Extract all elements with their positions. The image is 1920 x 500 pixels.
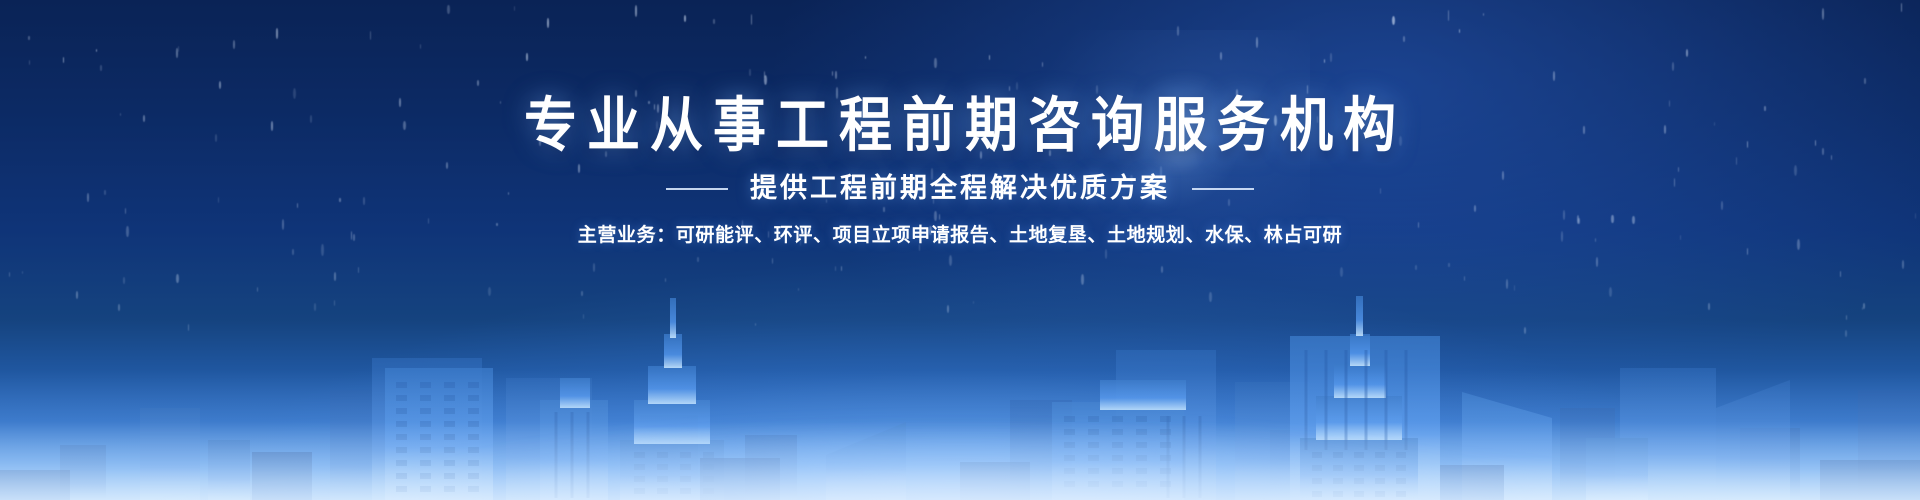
particle-field <box>0 0 1920 500</box>
rule-left-decoration <box>666 188 728 190</box>
banner-services-list: 主营业务：可研能评、环评、项目立项申请报告、土地复垦、土地规划、水保、林占可研 <box>0 226 1920 245</box>
banner-subtitle-row: 提供工程前期全程解决优质方案 <box>0 175 1920 202</box>
horizon-glow-arc <box>0 375 1920 500</box>
rule-right-decoration <box>1192 188 1254 190</box>
hero-banner: 专业从事工程前期咨询服务机构 提供工程前期全程解决优质方案 主营业务：可研能评、… <box>0 0 1920 500</box>
banner-subtitle: 提供工程前期全程解决优质方案 <box>750 175 1170 202</box>
landmark-tower-right <box>1300 296 1418 500</box>
banner-text-block: 专业从事工程前期咨询服务机构 提供工程前期全程解决优质方案 主营业务：可研能评、… <box>0 96 1920 245</box>
landmark-tower-left <box>620 298 724 500</box>
banner-headline: 专业从事工程前期咨询服务机构 <box>0 96 1920 155</box>
city-skyline-graphic <box>0 240 1920 500</box>
horizon-beam <box>210 380 1710 500</box>
horizon-haze <box>0 370 1920 500</box>
